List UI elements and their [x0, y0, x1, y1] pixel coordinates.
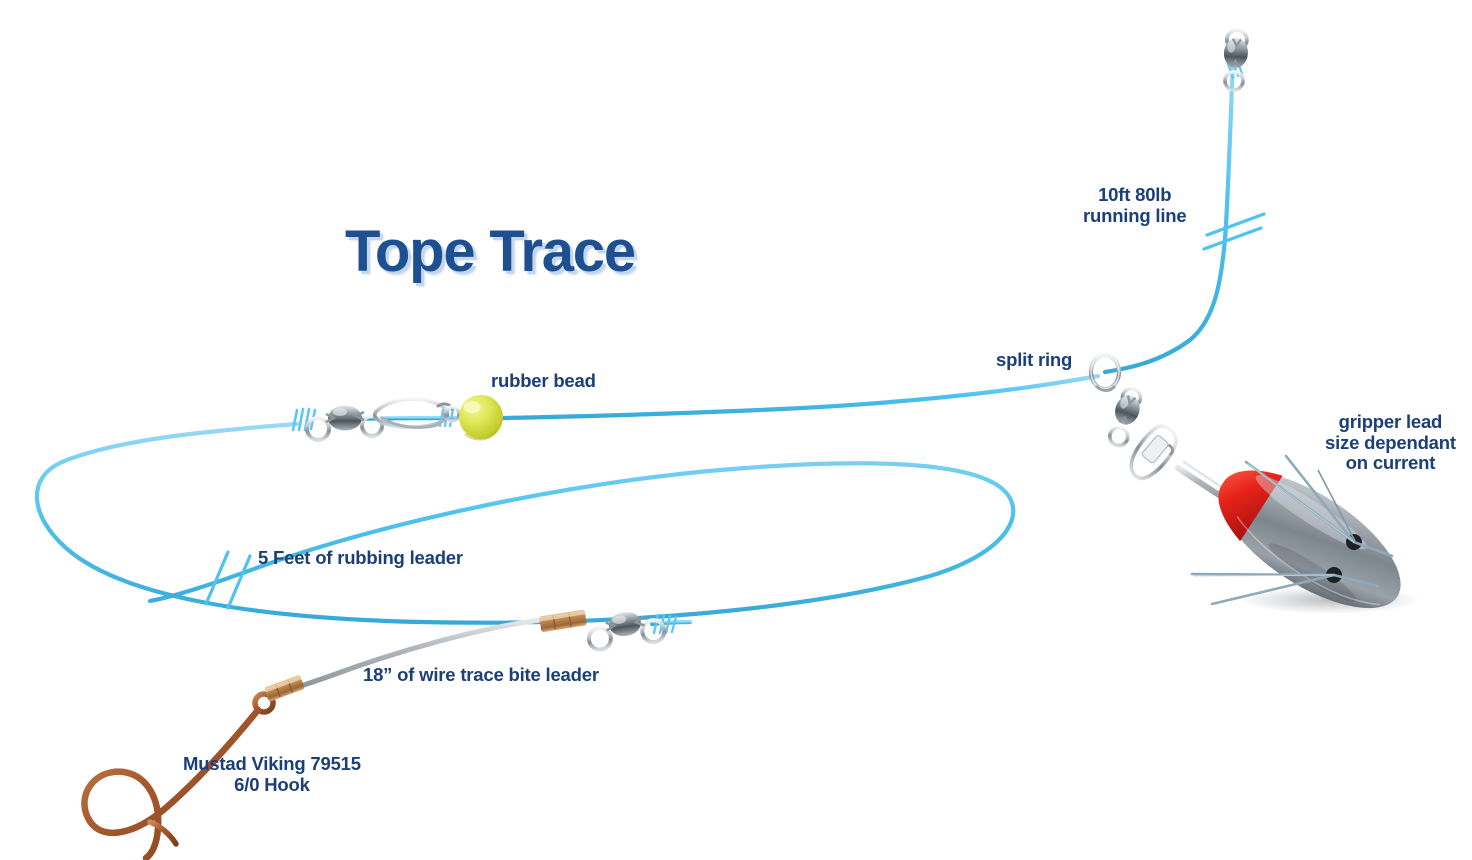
crimp-sleeve-hook — [264, 675, 305, 702]
label-wire-trace: 18” of wire trace bite leader — [363, 665, 599, 686]
crimp-sleeve-trace — [539, 609, 587, 632]
barrel-swivel-lead — [1105, 385, 1146, 449]
label-rubbing-leader: 5 Feet of rubbing leader — [258, 548, 463, 569]
break-mark-running-line — [1204, 214, 1264, 249]
page-title: Tope Trace — [345, 218, 635, 285]
label-hook: Mustad Viking 79515 6/0 Hook — [183, 754, 361, 795]
label-running-line: 10ft 80lb running line — [1083, 185, 1186, 226]
label-gripper-lead: gripper lead size dependant on current — [1325, 412, 1456, 474]
diagram-canvas: Tope Trace 10ft 80lb running line split … — [0, 0, 1472, 860]
rig-illustration — [0, 0, 1472, 860]
rubber-bead — [459, 395, 503, 440]
rubbing-leader-loop — [37, 418, 1013, 623]
barrel-swivel-leader — [307, 406, 382, 440]
label-split-ring: split ring — [996, 350, 1072, 371]
barrel-swivel-top — [1221, 29, 1249, 91]
snap-link-lead — [1123, 421, 1184, 485]
label-rubber-bead: rubber bead — [491, 371, 596, 392]
